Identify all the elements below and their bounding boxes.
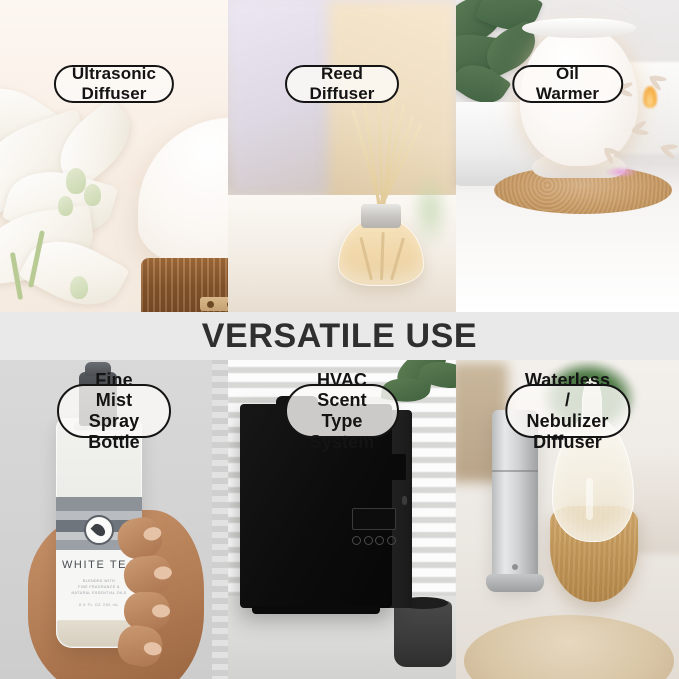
reed-diffuser-photo — [228, 0, 456, 314]
label-hvac-scent-type-system: HVAC Scent Type System — [285, 384, 399, 438]
panel-hvac-scent-type-system: HVAC Scent Type System — [228, 358, 456, 679]
nebulizer-base — [486, 574, 544, 592]
machine-button-1[interactable] — [352, 536, 361, 545]
bottle-collar — [361, 204, 401, 228]
flower-bud — [70, 276, 88, 299]
nebulizer-power-icon — [512, 564, 518, 570]
machine-slot — [390, 454, 406, 480]
finger — [123, 591, 170, 631]
diffuser-control-buttons — [200, 297, 228, 311]
versatile-use-banner: VERSATILE USE — [0, 312, 679, 360]
flower-bud — [66, 168, 86, 194]
warmer-light-glow — [604, 166, 638, 178]
banner-title: VERSATILE USE — [202, 317, 477, 356]
brand-logo — [84, 515, 114, 545]
machine-buttons[interactable] — [352, 536, 396, 545]
flame-drop-icon — [91, 522, 108, 539]
dark-cup — [394, 601, 452, 667]
flower-bud — [58, 196, 73, 216]
bottom-row: WHITE TEA BLENDED WITH FINE FRAGRANCE & … — [0, 358, 679, 679]
machine-feet — [252, 606, 380, 614]
nebulizer-seam — [492, 470, 538, 472]
ultrasonic-diffuser-photo — [0, 0, 228, 314]
label-reed-diffuser: Reed Diffuser — [285, 65, 399, 103]
panel-fine-mist-spray-bottle: WHITE TEA BLENDED WITH FINE FRAGRANCE & … — [0, 358, 228, 679]
background-stripes — [212, 358, 228, 679]
warmer-dish — [522, 18, 636, 38]
candle-flame — [643, 86, 657, 108]
wood-table — [464, 615, 674, 679]
label-waterless-nebulizer-diffuser: Waterless / Nebulizer Diffuser — [505, 384, 630, 438]
machine-display — [352, 508, 396, 530]
label-oil-warmer: Oil Warmer — [512, 65, 624, 103]
panel-oil-warmer: Oil Warmer — [456, 0, 679, 314]
machine-button-3[interactable] — [375, 536, 384, 545]
diffuser-wood-base — [141, 258, 228, 314]
panel-reed-diffuser: Reed Diffuser — [228, 0, 456, 314]
machine-indicator — [402, 496, 407, 505]
top-row: Ultrasonic Diffuser — [0, 0, 679, 314]
machine-button-4[interactable] — [387, 536, 396, 545]
panel-waterless-nebulizer-diffuser: Waterless / Nebulizer Diffuser — [456, 358, 679, 679]
label-ultrasonic-diffuser: Ultrasonic Diffuser — [54, 65, 174, 103]
versatile-use-collage: Ultrasonic Diffuser — [0, 0, 679, 679]
flower-bud — [84, 184, 101, 206]
oil-warmer-photo — [456, 0, 679, 314]
label-fine-mist-spray-bottle: Fine Mist Spray Bottle — [57, 384, 171, 438]
machine-button-2[interactable] — [364, 536, 373, 545]
panel-ultrasonic-diffuser: Ultrasonic Diffuser — [0, 0, 228, 314]
glass-inner-tube — [586, 478, 593, 520]
